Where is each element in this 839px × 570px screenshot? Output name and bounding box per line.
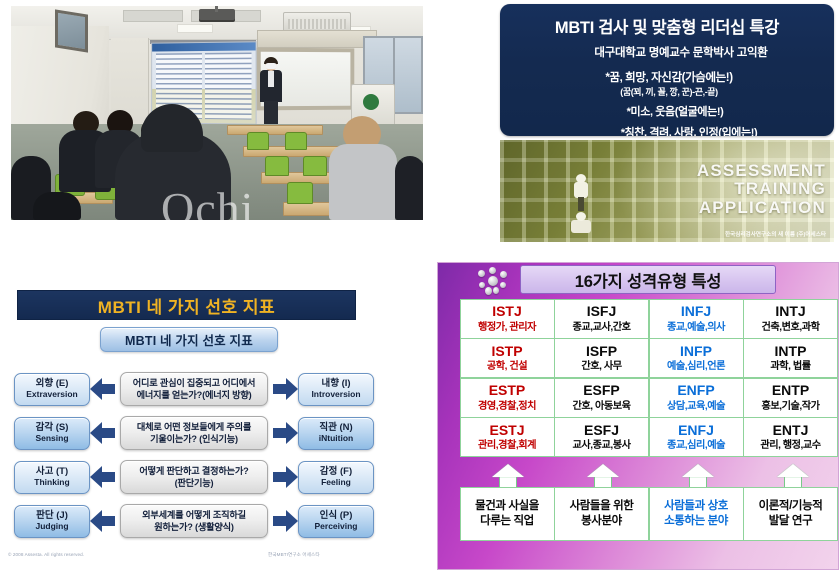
title-navy-panel: MBTI 검사 및 맞춤형 리더십 특강 대구대학교 명예교수 문학박사 고익환…: [500, 4, 834, 136]
pref-label-ko: 감정 (F): [320, 467, 352, 478]
type-code: ENTP: [772, 383, 809, 398]
bullet-line-4: *칭찬, 격려, 사랑, 인정(입에는!): [500, 124, 834, 136]
type-cell-enfp[interactable]: ENFP 상담,교육,예술: [649, 378, 744, 418]
pref-label-en: Introversion: [311, 390, 360, 400]
type-cell-intj[interactable]: INTJ 건축,변호,과학: [743, 299, 838, 339]
type-code: INTP: [775, 344, 807, 359]
arrow-left-icon: [90, 378, 116, 400]
preference-row-jp: 판단 (J) Judging 외부세계를 어떻게 조직하길원하는가? (생활양식…: [14, 503, 414, 539]
preference-subheader-text: MBTI 네 가지 선호 지표: [125, 330, 253, 349]
presenter: [260, 58, 282, 124]
type-cell-istj[interactable]: ISTJ 행정가, 관리자: [460, 299, 555, 339]
type-cell-infj[interactable]: INFJ 종교,예술,의사: [649, 299, 744, 339]
desk: [227, 125, 323, 135]
pref-label-en: Sensing: [35, 434, 68, 444]
student: [395, 156, 423, 220]
type-cell-infp[interactable]: INFP 예술,심리,언론: [649, 338, 744, 378]
summary-text: 물건과 사실을다루는 직업: [475, 499, 539, 529]
type-jobs: 과학, 법률: [770, 361, 810, 372]
type-code: ENFJ: [678, 423, 714, 438]
maze-line-1: ASSESSMENT: [697, 162, 826, 180]
pref-label-en: iNtuition: [319, 434, 353, 444]
pref-left-judging[interactable]: 판단 (J) Judging: [14, 505, 90, 538]
type-code: ESFJ: [584, 423, 619, 438]
title-slide: MBTI 검사 및 맞춤형 리더십 특강 대구대학교 명예교수 문학박사 고익환…: [500, 4, 834, 244]
pref-label-en: Extraversion: [26, 390, 78, 400]
type-cell-isfj[interactable]: ISFJ 종교,교사,간호: [554, 299, 649, 339]
pref-question-text: 어떻게 판단하고 결정하는가?(판단기능): [139, 465, 248, 490]
type-jobs: 경영,경찰,정치: [478, 401, 536, 412]
type-cell-entj[interactable]: ENTJ 관리, 행정,교수: [743, 417, 838, 457]
pref-label-ko: 판단 (J): [36, 511, 68, 522]
arrow-right-icon: [272, 378, 298, 400]
types-slide: 16가지 성격유형 특성 ISTJ 행정가, 관리자 ISFJ 종교,교사,간호…: [437, 262, 839, 570]
summary-text: 사람들과 상호소통하는 분야: [664, 499, 728, 529]
maze-figure-lower: [568, 212, 594, 234]
photo-watermark: Ochi: [161, 182, 254, 220]
arrow-up-icon: [460, 462, 555, 488]
arrow-right-icon: [272, 510, 298, 532]
lecturer-credit: 대구대학교 명예교수 문학박사 고익환: [500, 38, 834, 60]
preference-subheader-box: MBTI 네 가지 선호 지표: [100, 327, 278, 352]
type-jobs: 종교,교사,간호: [573, 322, 631, 333]
bullet-line-2: (꿈(꾀, 끼, 꼴, 깡, 꾼)-끈,-끝): [500, 85, 834, 98]
projector-mount: [215, 6, 218, 12]
summary-cell-service[interactable]: 사람들을 위한봉사분야: [554, 487, 649, 541]
pref-label-en: Thinking: [34, 478, 69, 488]
student: [33, 192, 81, 220]
pref-label-ko: 감각 (S): [36, 423, 69, 434]
chair: [287, 182, 313, 204]
arrow-left-icon: [90, 422, 116, 444]
pref-question-judging-function: 어떻게 판단하고 결정하는가?(판단기능): [120, 460, 268, 494]
type-cell-enfj[interactable]: ENFJ 종교,심리,예술: [649, 417, 744, 457]
type-jobs: 종교,예술,의사: [667, 322, 725, 333]
type-code: ESFP: [583, 383, 620, 398]
pref-right-perceiving[interactable]: 인식 (P) Perceiving: [298, 505, 374, 538]
preference-row-ei: 외향 (E) Extraversion 어디로 관심이 집중되고 어디에서에너지…: [14, 371, 414, 407]
wall-cabinet: [257, 30, 377, 48]
type-code: ENFP: [677, 383, 714, 398]
screen-column: [204, 53, 251, 120]
ceiling-lamp: [177, 24, 213, 33]
type-cell-isfp[interactable]: ISFP 간호, 사무: [554, 338, 649, 378]
type-cell-estj[interactable]: ESTJ 관리,경찰,회계: [460, 417, 555, 457]
type-jobs: 관리, 행정,교수: [760, 440, 820, 451]
type-cell-entp[interactable]: ENTP 홍보,기술,작가: [743, 378, 838, 418]
pref-left-sensing[interactable]: 감각 (S) Sensing: [14, 417, 90, 450]
chair: [285, 132, 307, 150]
type-code: ESTP: [489, 383, 526, 398]
pref-label-ko: 사고 (T): [36, 467, 68, 478]
pref-label-ko: 외향 (E): [36, 379, 69, 390]
type-cell-esfp[interactable]: ESFP 간호, 아동보육: [554, 378, 649, 418]
summary-text: 사람들을 위한봉사분야: [570, 499, 634, 529]
type-code: INFP: [680, 344, 712, 359]
bullet-line-1: *꿈, 희망, 자신감(가슴에는!): [500, 69, 834, 85]
maze-line-2: TRAINING: [697, 180, 826, 198]
types-arrow-row: [460, 462, 839, 488]
title-bullet-list: *꿈, 희망, 자신감(가슴에는!) (꿈(꾀, 끼, 꼴, 깡, 꾼)-끈,-…: [500, 60, 834, 136]
pref-question-text: 외부세계를 어떻게 조직하길원하는가? (생활양식): [142, 509, 246, 534]
type-cell-esfj[interactable]: ESFJ 교사,종교,봉사: [554, 417, 649, 457]
type-jobs: 간호, 사무: [581, 361, 621, 372]
pref-right-intuition[interactable]: 직관 (N) iNtuition: [298, 417, 374, 450]
preference-row-sn: 감각 (S) Sensing 대체로 어떤 정보들에게 주의를기울이는가? (인…: [14, 415, 414, 451]
chair: [303, 156, 327, 176]
table-row: ESTJ 관리,경찰,회계 ESFJ 교사,종교,봉사 ENFJ 종교,심리,예…: [460, 418, 839, 458]
preference-footer-right: 한국MBTI연구소 어세스타: [268, 552, 320, 558]
type-jobs: 상담,교육,예술: [667, 401, 725, 412]
type-jobs: 관리,경찰,회계: [478, 440, 536, 451]
summary-text: 이론적/기능적발달 연구: [759, 499, 823, 529]
bullet-line-3: *미소, 웃음(얼굴에는!): [500, 103, 834, 119]
arrow-up-icon: [650, 462, 745, 488]
preference-footer-left: © 2008 Assesta. All rights reserved.: [8, 552, 84, 557]
type-cell-intp[interactable]: INTP 과학, 법률: [743, 338, 838, 378]
type-jobs: 행정가, 관리자: [478, 322, 536, 333]
types-table: ISTJ 행정가, 관리자 ISFJ 종교,교사,간호 INFJ 종교,예술,의…: [460, 299, 839, 457]
summary-cell-theory[interactable]: 이론적/기능적발달 연구: [743, 487, 838, 541]
maze-line-3: APPLICATION: [697, 199, 826, 217]
type-jobs: 공학, 건설: [487, 361, 527, 372]
pref-label-ko: 인식 (P): [320, 511, 353, 522]
pref-label-ko: 직관 (N): [319, 423, 352, 434]
type-code: INTJ: [775, 304, 805, 319]
type-code: INFJ: [681, 304, 711, 319]
table-row: ESTP 경영,경찰,정치 ESFP 간호, 아동보육 ENFP 상담,교육,예…: [460, 378, 839, 418]
type-jobs: 홍보,기술,작가: [762, 401, 820, 412]
pref-left-thinking[interactable]: 사고 (T) Thinking: [14, 461, 90, 494]
type-cell-estp[interactable]: ESTP 경영,경찰,정치: [460, 378, 555, 418]
arrow-right-icon: [272, 466, 298, 488]
pref-question-text: 대체로 어떤 정보들에게 주의를기울이는가? (인식기능): [137, 421, 251, 446]
maze-heading: ASSESSMENT TRAINING APPLICATION: [697, 162, 826, 217]
types-title-text: 16가지 성격유형 특성: [575, 268, 722, 292]
pref-left-extraversion[interactable]: 외향 (E) Extraversion: [14, 373, 90, 406]
chair: [247, 132, 269, 150]
table-row: ISTJ 행정가, 관리자 ISFJ 종교,교사,간호 INFJ 종교,예술,의…: [460, 299, 839, 339]
type-jobs: 교사,종교,봉사: [573, 440, 631, 451]
summary-cell-communication[interactable]: 사람들과 상호소통하는 분야: [649, 487, 744, 541]
pref-label-en: Feeling: [321, 478, 351, 488]
type-jobs: 종교,심리,예술: [667, 440, 725, 451]
lecture-title: MBTI 검사 및 맞춤형 리더십 특강: [500, 4, 834, 38]
pref-label-en: Perceiving: [315, 522, 358, 532]
type-code: ENTJ: [773, 423, 809, 438]
types-title-box: 16가지 성격유형 특성: [520, 265, 776, 294]
type-cell-istp[interactable]: ISTP 공학, 건설: [460, 338, 555, 378]
arrow-up-icon: [555, 462, 650, 488]
preference-header-bar: MBTI 네 가지 선호 지표: [17, 290, 356, 320]
arrow-left-icon: [90, 510, 116, 532]
type-jobs: 예술,심리,언론: [667, 361, 725, 372]
wall-picture: [55, 9, 88, 52]
classroom-lecture-photo: Ochi: [11, 6, 423, 220]
arrow-up-icon: [745, 462, 839, 488]
pref-question-perceiving-function: 대체로 어떤 정보들에게 주의를기울이는가? (인식기능): [120, 416, 268, 450]
type-code: ISFP: [586, 344, 617, 359]
pref-question-energy: 어디로 관심이 집중되고 어디에서에너지를 얻는가?(에너지 방향): [120, 372, 268, 406]
table-row: ISTP 공학, 건설 ISFP 간호, 사무 INFP 예술,심리,언론 IN…: [460, 339, 839, 379]
pref-label-en: Judging: [35, 522, 68, 532]
type-code: ISTJ: [492, 304, 522, 319]
type-jobs: 건축,변호,과학: [762, 322, 820, 333]
slide-collage: Ochi MBTI 검사 및 맞춤형 리더십 특강 대구대학교 명예교수 문학박…: [0, 0, 839, 570]
type-code: ISFJ: [587, 304, 617, 319]
preference-row-tf: 사고 (T) Thinking 어떻게 판단하고 결정하는가?(판단기능) 감정…: [14, 459, 414, 495]
arrow-left-icon: [90, 466, 116, 488]
arrow-right-icon: [272, 422, 298, 444]
screen-header-band: [152, 42, 255, 51]
maze-banner: ASSESSMENT TRAINING APPLICATION 한국심리검사연구…: [500, 140, 834, 242]
pref-label-ko: 내향 (I): [321, 379, 350, 390]
chair: [265, 156, 289, 176]
type-jobs: 간호, 아동보육: [573, 401, 631, 412]
flower-cluster-icon: [476, 267, 510, 295]
pref-question-text: 어디로 관심이 집중되고 어디에서에너지를 얻는가?(에너지 방향): [133, 377, 256, 402]
types-summary-row: 물건과 사실을다루는 직업 사람들을 위한봉사분야 사람들과 상호소통하는 분야…: [460, 487, 839, 541]
pref-question-lifestyle: 외부세계를 어떻게 조직하길원하는가? (생활양식): [120, 504, 268, 538]
student-grey-hoodie: [329, 144, 397, 220]
pref-right-feeling[interactable]: 감정 (F) Feeling: [298, 461, 374, 494]
ceiling-tile: [123, 10, 183, 22]
podium-logo: [363, 94, 379, 110]
summary-cell-things[interactable]: 물건과 사실을다루는 직업: [460, 487, 555, 541]
type-code: ISTP: [491, 344, 522, 359]
type-code: ESTJ: [489, 423, 524, 438]
pref-right-introversion[interactable]: 내향 (I) Introversion: [298, 373, 374, 406]
types-header: 16가지 성격유형 특성: [438, 263, 838, 297]
maze-credit: 한국심리검사연구소의 새 이름 (주)어세스타: [725, 230, 826, 238]
preference-header-text: MBTI 네 가지 선호 지표: [98, 293, 275, 318]
